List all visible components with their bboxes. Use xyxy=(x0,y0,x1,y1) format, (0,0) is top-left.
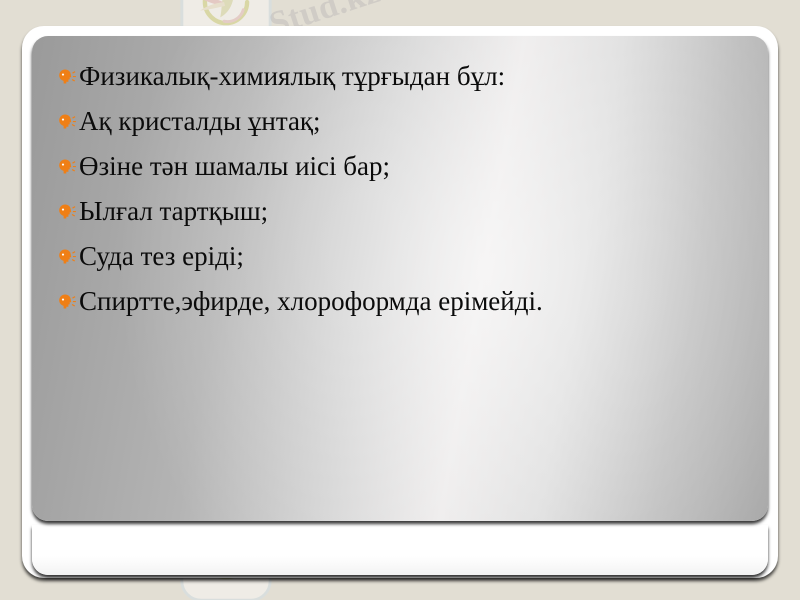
bullet-item: Ылғал тартқыш; xyxy=(56,193,750,231)
slide-content-panel: Физикалық-химиялық тұрғыдан бұл:Ақ крист… xyxy=(32,36,768,521)
bullet-item: Суда тез еріді; xyxy=(56,238,750,276)
speaking-head-icon xyxy=(56,291,78,313)
bullet-item: Физикалық-химиялық тұрғыдан бұл: xyxy=(56,58,750,96)
bullet-text: Ылғал тартқыш; xyxy=(79,193,268,230)
bullet-item: Өзіне тән шамалы иісі бар; xyxy=(56,148,750,186)
bullet-list: Физикалық-химиялық тұрғыдан бұл:Ақ крист… xyxy=(32,36,768,321)
slide-bottom-strip xyxy=(32,525,768,575)
bullet-text: Спиртте,эфирде, хлороформда ерімейді. xyxy=(79,283,543,320)
speaking-head-icon xyxy=(56,246,78,268)
bullet-item: Ақ кристалды ұнтақ; xyxy=(56,103,750,141)
speaking-head-icon xyxy=(56,156,78,178)
bullet-item: Спиртте,эфирде, хлороформда ерімейді. xyxy=(56,283,750,321)
bullet-text: Суда тез еріді; xyxy=(79,238,244,275)
speaking-head-icon xyxy=(56,201,78,223)
speaking-head-icon xyxy=(56,66,78,88)
speaking-head-icon xyxy=(56,111,78,133)
bullet-text: Ақ кристалды ұнтақ; xyxy=(79,103,321,140)
bullet-text: Өзіне тән шамалы иісі бар; xyxy=(79,148,390,185)
bullet-text: Физикалық-химиялық тұрғыдан бұл: xyxy=(79,58,505,95)
